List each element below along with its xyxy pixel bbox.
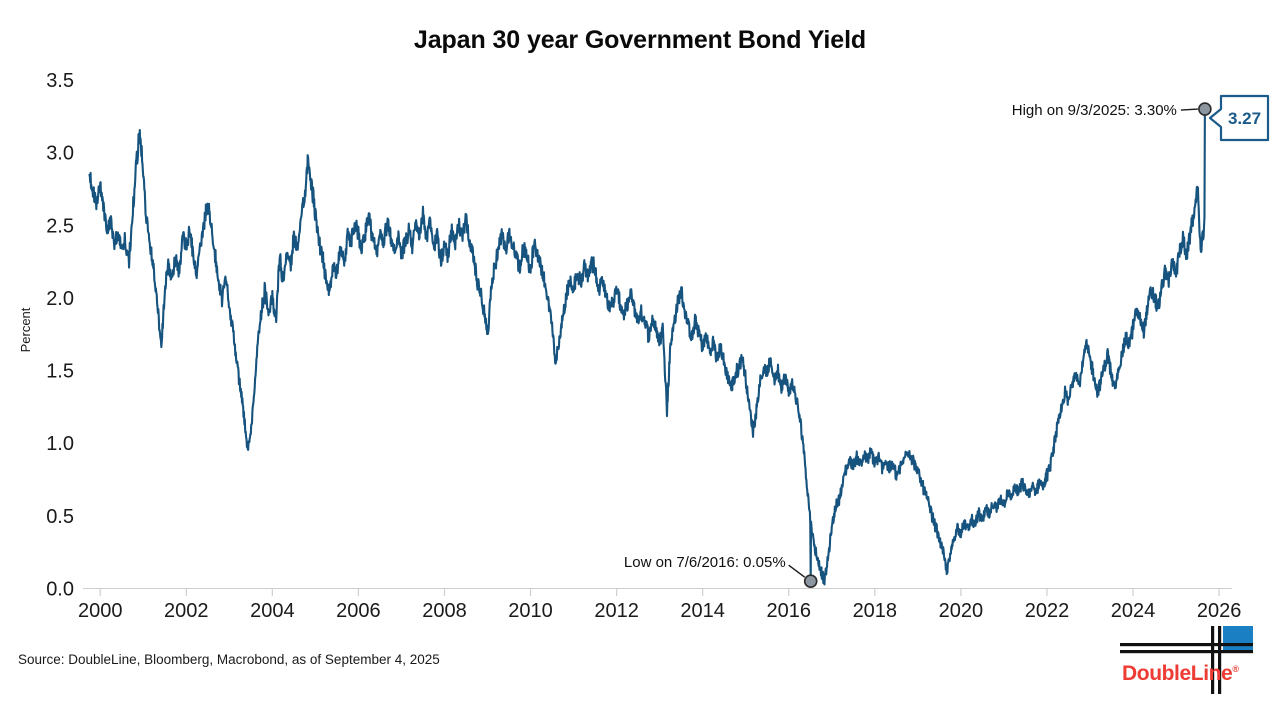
low-annotation-marker [805,575,817,587]
x-axis-tick-label: 2026 [1197,600,1242,622]
high-annotation: High on 9/3/2025: 3.30% [1012,102,1211,119]
logo-mark [1118,622,1270,698]
y-axis-tick-label: 0.5 [46,506,74,528]
y-axis-tick-label: 0.0 [46,579,74,601]
doubleline-logo: DoubleLine® [1118,622,1270,698]
chart-plot-area: 2000200220042006200820102012201420162018… [0,0,1280,720]
low-annotation-label: Low on 7/6/2016: 0.05% [624,554,786,571]
chart-container: Japan 30 year Government Bond Yield 2000… [0,0,1280,720]
logo-horizontal-rule-top [1120,643,1253,646]
x-axis-tick-label: 2008 [422,600,467,622]
high-annotation-label: High on 9/3/2025: 3.30% [1012,102,1177,119]
x-axis-tick-label: 2022 [1025,600,1070,622]
y-axis-title: Percent [18,307,33,352]
x-axis-tick-label: 2012 [594,600,639,622]
y-axis-tick-label: 1.0 [46,433,74,455]
last-value-callout: 3.27 [1210,96,1268,140]
x-axis-tick-labels: 2000200220042006200820102012201420162018… [78,600,1241,622]
x-axis-tick-label: 2024 [1111,600,1156,622]
low-annotation-leader-line [789,565,805,577]
x-axis-tick-label: 2002 [164,600,209,622]
x-axis-tick-label: 2014 [680,600,725,622]
y-axis-tick-label: 2.0 [46,288,74,310]
high-annotation-leader-line [1181,109,1198,110]
low-annotation: Low on 7/6/2016: 0.05% [624,554,817,587]
y-axis-tick-label: 2.5 [46,215,74,237]
y-axis-tick-label: 1.5 [46,361,74,383]
x-axis-tick-label: 2006 [336,600,381,622]
y-axis-tick-label: 3.5 [46,70,74,92]
logo-wordmark-text: DoubleLine [1122,662,1232,685]
x-axis-tick-label: 2000 [78,600,123,622]
x-axis-tick-label: 2018 [853,600,898,622]
x-axis-tick-label: 2004 [250,600,295,622]
logo-horizontal-rule-bottom [1120,650,1253,653]
x-axis-tick-label: 2010 [508,600,553,622]
source-note: Source: DoubleLine, Bloomberg, Macrobond… [18,652,440,667]
x-axis-tick-label: 2020 [939,600,984,622]
data-series-line [89,109,1204,584]
y-axis-tick-label: 3.0 [46,143,74,165]
registered-trademark-icon: ® [1232,664,1238,674]
high-annotation-marker [1199,103,1211,115]
logo-blue-square [1223,626,1253,650]
x-axis-tick-label: 2016 [767,600,812,622]
y-axis-tick-labels: 0.00.51.01.52.02.53.03.5 [46,70,74,601]
callout-value: 3.27 [1228,109,1261,128]
x-axis-ticks [100,589,1219,597]
logo-wordmark: DoubleLine® [1122,662,1239,686]
